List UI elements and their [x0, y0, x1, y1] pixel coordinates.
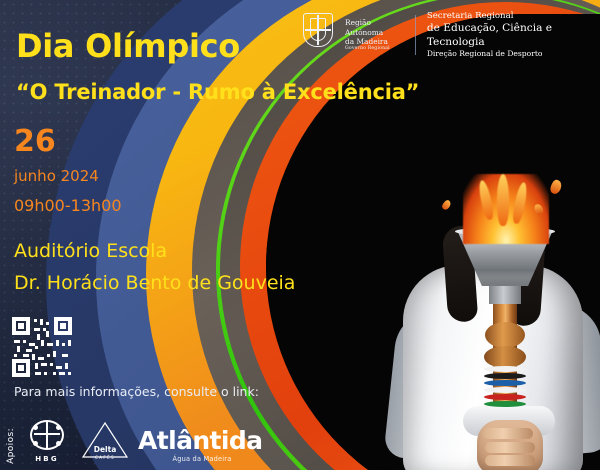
- venue-line-1: Auditório Escola: [14, 240, 167, 262]
- delta-logo-label: Delta: [82, 445, 128, 454]
- ember-spark: [549, 179, 564, 196]
- olympic-day-poster: Dia Olímpico “O Treinador - Rumo à Excel…: [0, 0, 600, 470]
- finger: [483, 428, 533, 439]
- hand: [477, 420, 543, 470]
- hbg-logo: HBG: [26, 420, 68, 462]
- torch-ring-blue: [484, 380, 526, 386]
- atlantida-logo-sub: Água da Madeira: [138, 455, 266, 463]
- event-time: 09h00-13h00: [14, 196, 122, 215]
- venue-line-2: Dr. Horácio Bento de Gouveia: [14, 272, 295, 294]
- secretariat-line-1: Secretaria Regional: [427, 11, 592, 22]
- torch-ring-red: [484, 394, 526, 400]
- region-line-1: Região Autónoma: [345, 18, 404, 37]
- region-logo-text: Região Autónoma da Madeira Governo Regio…: [345, 18, 404, 51]
- madeira-coat-of-arms-icon: [300, 13, 336, 57]
- ember-spark: [441, 199, 453, 211]
- delta-logo-sub: CAFÉS: [82, 455, 128, 460]
- qr-code[interactable]: [12, 317, 72, 377]
- poster-subtitle: “O Treinador - Rumo à Excelência”: [16, 80, 419, 104]
- flame-tongue: [497, 174, 509, 226]
- secretariat-line-2: de Educação, Ciência e Tecnologia: [427, 22, 592, 49]
- torch-knob-upper: [485, 322, 525, 348]
- link-prompt-text: Para mais informações, consulte o link:: [14, 384, 259, 399]
- torch-ring-black: [484, 373, 526, 379]
- secretariat-line-3: Direção Regional de Desporto: [427, 49, 592, 59]
- torch-knob-lower: [484, 346, 526, 368]
- finger: [485, 442, 535, 453]
- delta-logo: Delta CAFÉS: [82, 422, 128, 462]
- secretariat-logo-text: Secretaria Regional de Educação, Ciência…: [427, 11, 592, 59]
- atlantida-logo-name: Atlântida: [138, 428, 266, 453]
- torch-ring-white2: [484, 387, 526, 393]
- torch-bearer-photo: [385, 170, 600, 470]
- header-divider: [415, 15, 416, 55]
- atlantida-logo: Atlântida Água da Madeira: [138, 428, 266, 463]
- region-line-2: da Madeira: [345, 37, 404, 46]
- finger: [485, 455, 535, 466]
- hbg-logo-label: HBG: [26, 455, 68, 463]
- event-day: 26: [14, 124, 56, 159]
- sponsor-strip: Apoios: HBG Delta CAFÉS Atlântida Água d…: [0, 414, 300, 470]
- torch-ring-green: [484, 401, 526, 407]
- institutional-header: Região Autónoma da Madeira Governo Regio…: [300, 8, 592, 62]
- page-title: Dia Olímpico: [16, 27, 240, 65]
- sponsors-label: Apoios:: [6, 428, 16, 464]
- torch-ring-white: [484, 366, 526, 372]
- event-month-year: junho 2024: [14, 167, 99, 185]
- flame-tongue: [477, 179, 495, 220]
- flame-tongue: [511, 181, 529, 224]
- region-line-3: Governo Regional: [345, 46, 404, 52]
